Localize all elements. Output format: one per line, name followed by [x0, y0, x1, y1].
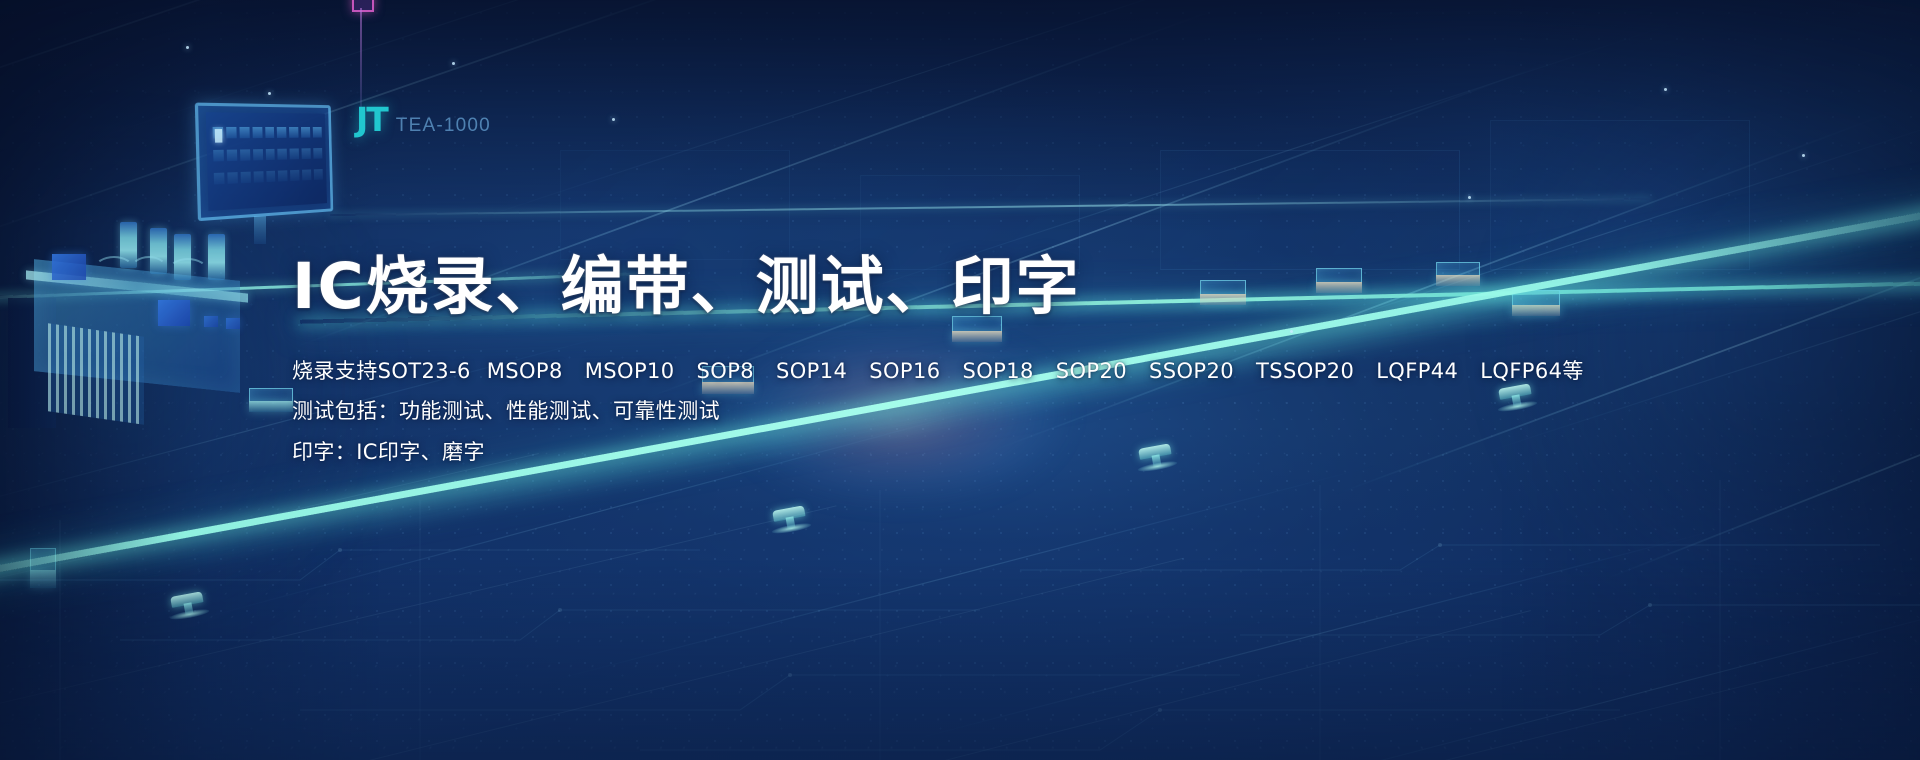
top-vignette: [0, 0, 1920, 230]
equipment-brand-logo: JT TEA-1000: [356, 100, 491, 139]
bottom-vignette: [0, 560, 1920, 760]
monitor-screen-row: [213, 148, 322, 161]
carrier-base: [771, 521, 812, 535]
floor-circuit-traces: [0, 460, 1920, 760]
room-floor-gradient: [0, 426, 1920, 760]
machine-module: [158, 300, 190, 326]
hero-banner: JT TEA-1000: [0, 0, 1920, 760]
brand-mark-jt: JT: [356, 100, 387, 139]
package-type: SOP20: [1056, 359, 1127, 383]
sparkle-dot: [1802, 154, 1805, 157]
carrier-cap: [170, 591, 203, 608]
machine-cylinder: [150, 228, 167, 274]
monitor-screen-row: [214, 169, 323, 184]
magenta-marker-icon: [352, 0, 374, 12]
chip-tray-icon: [249, 388, 293, 412]
banner-content: IC烧录、编带、测试、印字 烧录支持SOT23-6MSOP8MSOP10SOP8…: [292, 252, 1572, 473]
machine-cylinder: [120, 222, 137, 268]
monitor-highlight-cell: [215, 129, 223, 143]
package-type: LQFP64等: [1480, 359, 1584, 383]
marking-service-line: 印字：IC印字、磨字: [292, 432, 1572, 473]
sparkle-dot: [452, 62, 455, 65]
chip-tray-icon: [30, 548, 56, 588]
machine-module: [204, 316, 218, 327]
package-type: LQFP44: [1376, 359, 1458, 383]
monitor-screen: [206, 112, 327, 211]
sparkle-dot: [186, 46, 189, 49]
floor-traces-svg: [0, 460, 1920, 760]
sparkle-dot: [1468, 196, 1471, 199]
monitor-screen-row: [213, 127, 322, 139]
testing-scope-line: 测试包括：功能测试、性能测试、可靠性测试: [292, 391, 1572, 432]
package-type: TSSOP20: [1256, 359, 1354, 383]
machine-fin-stack: [48, 323, 144, 424]
chip-tray-top: [30, 548, 56, 570]
conveyor-carrier: [766, 504, 814, 536]
machine-hose: [168, 258, 208, 284]
equipment-model-label: TEA-1000: [396, 115, 491, 137]
chip-tray-base: [249, 401, 293, 412]
machine-hose: [130, 256, 168, 284]
monitor-stand: [254, 216, 266, 244]
burn-support-lead: 烧录支持SOT23-6: [292, 359, 471, 383]
carrier-cap: [772, 505, 805, 522]
machine-hose: [94, 256, 134, 282]
ic-handling-machine: [8, 212, 268, 442]
carrier-stem: [786, 516, 796, 528]
upper-light-beam: [330, 198, 1650, 216]
machine-cylinder: [208, 234, 225, 280]
monitor-frame: [195, 103, 333, 222]
package-type: SSOP20: [1149, 359, 1234, 383]
chip-tray-top: [249, 388, 293, 401]
package-type: SOP16: [869, 359, 940, 383]
workstation-monitor: [195, 103, 333, 222]
package-type: SOP18: [963, 359, 1034, 383]
sparkle-dot: [268, 92, 271, 95]
sparkle-dot: [612, 118, 615, 121]
carrier-base: [169, 607, 210, 621]
machine-cylinder: [174, 234, 191, 280]
background-equipment-block: [560, 150, 790, 260]
package-type: SOP14: [776, 359, 847, 383]
machine-side-panel: [8, 298, 56, 428]
service-detail-list: 烧录支持SOT23-6MSOP8MSOP10SOP8SOP14SOP16SOP1…: [292, 351, 1572, 474]
chip-tray-base: [30, 570, 56, 588]
machine-body: [34, 259, 240, 393]
burn-support-line: 烧录支持SOT23-6MSOP8MSOP10SOP8SOP14SOP16SOP1…: [292, 351, 1572, 392]
sparkle-dot: [1664, 88, 1667, 91]
package-type: SOP8: [697, 359, 754, 383]
machine-rail: [26, 270, 248, 302]
magenta-light-beam: [360, 8, 362, 118]
machine-module: [226, 318, 240, 329]
background-equipment-block: [1490, 120, 1750, 270]
carrier-stem: [184, 602, 194, 614]
package-type: MSOP10: [585, 359, 675, 383]
conveyor-carrier: [164, 590, 212, 622]
machine-module: [52, 254, 86, 280]
page-title: IC烧录、编带、测试、印字: [292, 252, 1572, 323]
package-type: MSOP8: [487, 359, 563, 383]
